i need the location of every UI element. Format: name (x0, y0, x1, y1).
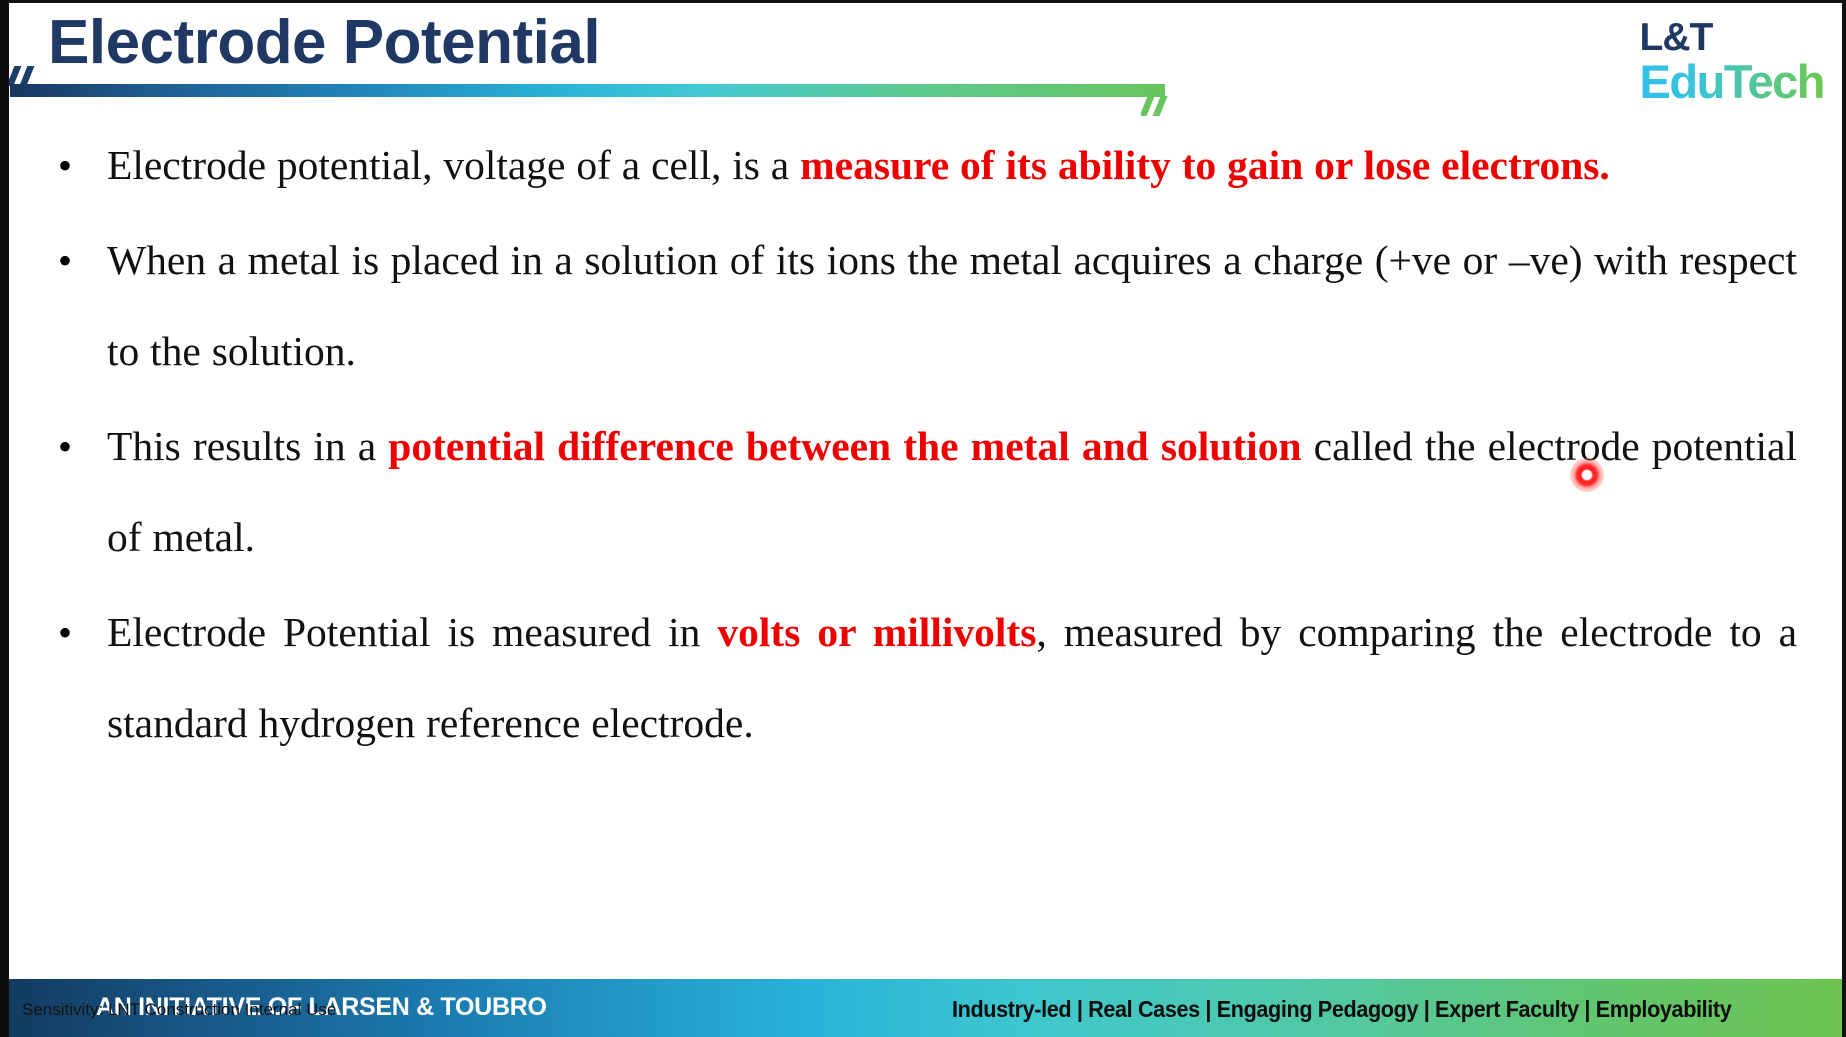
laser-pointer-dot-icon (1570, 458, 1604, 492)
footer-sensitivity-label: Sensitivity: LNT Construction Internal U… (22, 1000, 336, 1020)
lnt-edutech-logo: L&T EduTech (1640, 18, 1824, 105)
footer-tagline-text: Industry-led | Real Cases | Engaging Ped… (952, 996, 1731, 1023)
bullet-text: When a metal is placed in a solution of … (107, 215, 1797, 397)
title-rule-tick-left-icon (8, 66, 42, 86)
logo-secondary-text: EduTech (1640, 58, 1824, 105)
bullet-segment-plain: When a metal is placed in a solution of … (107, 237, 1797, 374)
list-item: • Electrode Potential is measured in vol… (52, 587, 1797, 769)
list-item: • When a metal is placed in a solution o… (52, 215, 1797, 397)
title-rule-tick-right-icon (1141, 96, 1175, 116)
bullet-text: Electrode potential, voltage of a cell, … (107, 120, 1797, 211)
slide-footer-bar: AN INITIATIVE OF LARSEN & TOUBRO Sensiti… (0, 979, 1846, 1037)
capture-frame-right-edge (1842, 0, 1846, 1037)
capture-frame-top-edge (0, 0, 1846, 3)
bullet-text: Electrode Potential is measured in volts… (107, 587, 1797, 769)
bullet-segment-plain: This results in a (107, 423, 388, 469)
slide-title-area: Electrode Potential (0, 0, 1846, 100)
capture-frame-left-edge (0, 0, 9, 1037)
bullet-marker-icon: • (58, 120, 72, 211)
title-underline-rule (10, 84, 1165, 97)
bullet-marker-icon: • (58, 215, 72, 306)
bullet-segment-emphasis: volts or millivolts (717, 609, 1036, 655)
bullet-marker-icon: • (58, 587, 72, 678)
slide-body-bullet-list: • Electrode potential, voltage of a cell… (52, 120, 1797, 773)
logo-primary-text: L&T (1640, 18, 1824, 57)
presentation-slide: Electrode Potential L&T EduTech • Electr… (0, 0, 1846, 1037)
bullet-segment-plain: Electrode Potential is measured in (107, 609, 717, 655)
bullet-marker-icon: • (58, 401, 72, 492)
list-item: • This results in a potential difference… (52, 401, 1797, 583)
bullet-segment-emphasis: potential difference between the metal a… (388, 423, 1301, 469)
list-item: • Electrode potential, voltage of a cell… (52, 120, 1797, 211)
bullet-text: This results in a potential difference b… (107, 401, 1797, 583)
page-title: Electrode Potential (48, 8, 600, 78)
bullet-segment-plain: Electrode potential, voltage of a cell, … (107, 142, 800, 188)
bullet-segment-emphasis: measure of its ability to gain or lose e… (800, 142, 1610, 188)
